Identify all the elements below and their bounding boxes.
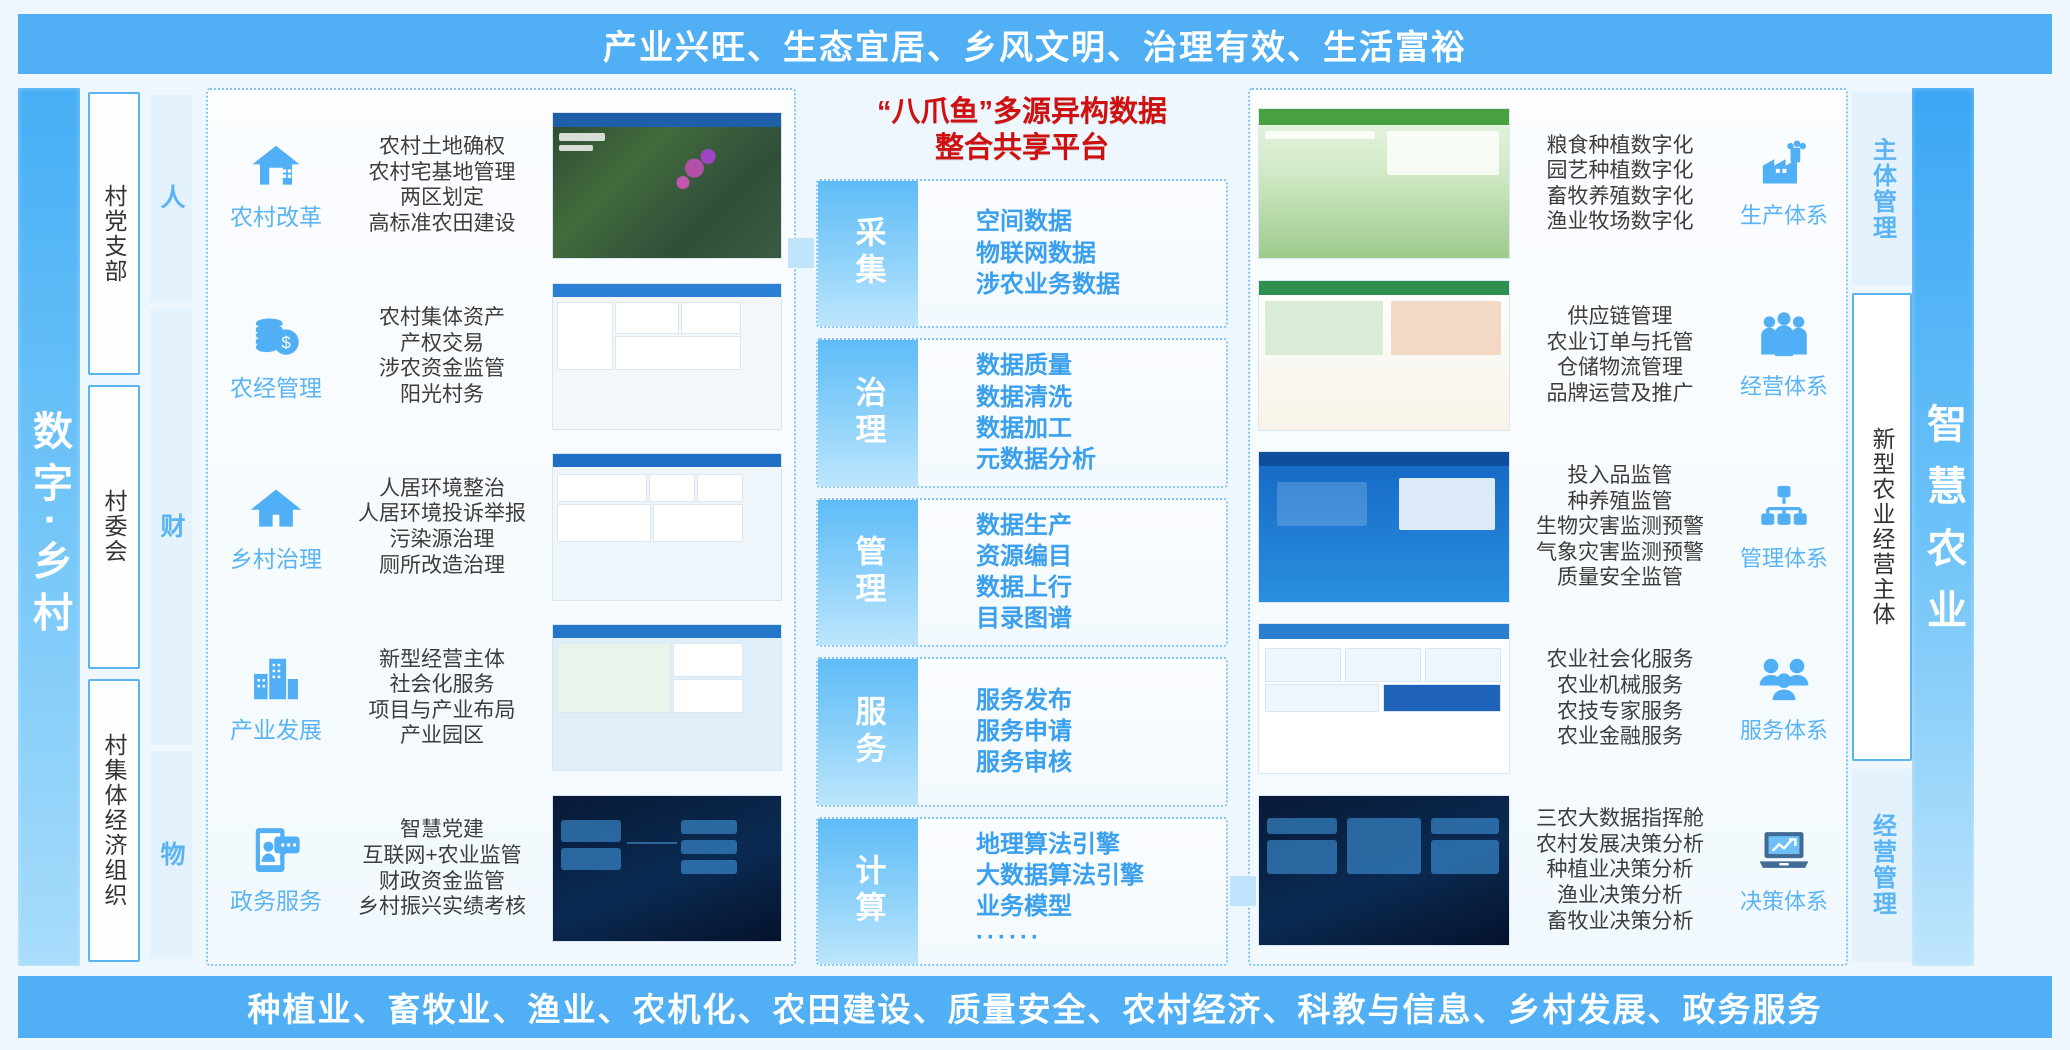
feature-item-list: 新型经营主体 社会化服务 项目与产业布局 产业园区 [338,647,546,749]
form-dashboard-screenshot[interactable] [552,283,782,430]
stage-item: 物联网数据 [976,238,1226,269]
feature-row-rural-governance[interactable]: 乡村治理 人居环境整治 人居环境投诉举报 污染源治理 厕所改造治理 [216,442,786,613]
mobile-chat-icon [246,822,306,878]
gis-map-screenshot[interactable] [552,624,782,771]
stage-item: 空间数据 [976,206,1226,237]
system-row-service[interactable]: 农业社会化服务 农业机械服务 农技专家服务 农业金融服务 服务体系 [1258,613,1838,785]
system-item: 气象灾害监测预警 [1536,540,1704,566]
feature-name: 农村改革 [230,198,322,232]
feature-item: 人居环境整治 [379,476,505,502]
top-banner: 产业兴旺、生态宜居、乡风文明、治理有效、生活富裕 [18,14,2052,74]
system-item-list: 供应链管理 农业订单与托管 仓储物流管理 品牌运营及推广 [1514,304,1726,406]
resource-column: 人 财 物 [146,88,196,966]
business-entity-column: 主体管理 新型农业经营主体 经营管理 [1852,88,1912,966]
system-item: 农技专家服务 [1557,699,1683,725]
feature-item: 产权交易 [400,331,484,357]
feature-name: 农经管理 [230,369,322,403]
resource-cell-assets: 物 [150,751,192,959]
bottom-banner: 种植业、畜牧业、渔业、农机化、农田建设、质量安全、农村经济、科教与信息、乡村发展… [18,976,2052,1038]
system-item-list: 投入品监管 种养殖监管 生物灾害监测预警 气象灾害监测预警 质量安全监管 [1514,463,1726,591]
stage-tag: 治理 [818,340,918,486]
left-vertical-strip: 数字·乡村 [18,88,80,966]
system-name: 决策体系 [1740,884,1828,916]
feature-name: 产业发展 [230,711,322,745]
stage-item: 大数据算法引擎 [976,860,1226,891]
feature-item: 两区划定 [400,185,484,211]
feature-item: 农村土地确权 [379,134,505,160]
system-item: 种植业决策分析 [1547,857,1694,883]
entity-box-new-agri-operators[interactable]: 新型农业经营主体 [1852,293,1912,761]
dark-bigdata-cockpit-screenshot[interactable] [1258,795,1510,946]
infographic-page: 产业兴旺、生态宜居、乡风文明、治理有效、生活富裕 数字·乡村 村党支部 村委会 … [0,0,2070,1050]
feature-item: 智慧党建 [400,817,484,843]
system-item: 品牌运营及推广 [1547,381,1694,407]
system-name: 经营体系 [1740,369,1828,401]
feature-item: 新型经营主体 [379,647,505,673]
stage-item-more: ······ [976,922,1226,953]
system-item: 农业社会化服务 [1547,647,1694,673]
stage-item: 数据清洗 [976,382,1226,413]
stage-item-list: 空间数据 物联网数据 涉农业务数据 [918,181,1226,327]
satellite-map-screenshot[interactable] [552,112,782,259]
factory-icon [1757,138,1811,195]
stage-tag: 服务 [818,659,918,805]
blue-supervision-screenshot[interactable] [1258,451,1510,602]
feature-icon-block: 产业发展 [220,651,332,745]
platform-title-line2: 整合共享平台 [816,130,1228,166]
three-people-icon [1757,653,1811,710]
feature-name: 乡村治理 [230,540,322,574]
people-group-icon [1757,309,1811,366]
platform-stage-collect[interactable]: 采集 空间数据 物联网数据 涉农业务数据 [816,179,1228,329]
system-item: 农业订单与托管 [1547,330,1694,356]
system-row-list: 粮食种植数字化 园艺种植数字化 畜牧养殖数字化 渔业牧场数字化 生产体系 [1258,98,1838,956]
stage-item: 业务模型 [976,891,1226,922]
feature-name: 政务服务 [230,882,322,916]
stage-item-list: 数据质量 数据清洗 数据加工 元数据分析 [918,340,1226,486]
system-icon-block: 决策体系 [1730,824,1838,916]
feature-item: 农村集体资产 [379,305,505,331]
stage-item: 数据上行 [976,572,1226,603]
platform-stage-management[interactable]: 管理 数据生产 资源编目 数据上行 目录图谱 [816,498,1228,648]
feature-icon-block: 政务服务 [220,822,332,916]
system-item: 农业机械服务 [1557,673,1683,699]
system-item: 园艺种植数字化 [1547,158,1694,184]
org-box-party-branch[interactable]: 村党支部 [88,92,140,375]
feature-item: 高标准农田建设 [369,211,516,237]
system-item: 渔业决策分析 [1557,883,1683,909]
system-icon-block: 生产体系 [1730,138,1838,230]
system-icon-block: 服务体系 [1730,653,1838,745]
system-item: 种养殖监管 [1568,489,1673,515]
feature-item-list: 农村集体资产 产权交易 涉农资金监管 阳光村务 [338,305,546,407]
platform-stage-list: 采集 空间数据 物联网数据 涉农业务数据 治理 数据质量 数据清洗 数据加工 元… [816,179,1228,967]
stage-item: 数据加工 [976,413,1226,444]
system-item: 渔业牧场数字化 [1547,209,1694,235]
stage-item: 服务发布 [976,685,1226,716]
feature-row-industry-development[interactable]: 产业发展 新型经营主体 社会化服务 项目与产业布局 产业园区 [216,612,786,783]
stage-item: 元数据分析 [976,444,1226,475]
system-item: 生物灾害监测预警 [1536,514,1704,540]
system-row-operation[interactable]: 供应链管理 农业订单与托管 仓储物流管理 品牌运营及推广 经营体系 [1258,270,1838,442]
org-box-collective-economy[interactable]: 村集体经济组织 [88,679,140,962]
stage-item: 服务申请 [976,716,1226,747]
feature-icon-block: $ 农经管理 [220,309,332,403]
feature-row-rural-economy[interactable]: $ 农经管理 农村集体资产 产权交易 涉农资金监管 阳光村务 [216,271,786,442]
feature-item: 社会化服务 [390,672,495,698]
system-name: 管理体系 [1740,541,1828,573]
system-item: 粮食种植数字化 [1547,133,1694,159]
system-item: 供应链管理 [1568,304,1673,330]
platform-title: “八爪鱼”多源异构数据 整合共享平台 [816,88,1228,179]
feature-item-list: 农村土地确权 农村宅基地管理 两区划定 高标准农田建设 [338,134,546,236]
system-item: 畜牧业决策分析 [1547,909,1694,935]
laptop-chart-icon [1757,824,1811,881]
feature-icon-block: 乡村治理 [220,480,332,574]
system-item: 畜牧养殖数字化 [1547,184,1694,210]
system-item-list: 粮食种植数字化 园艺种植数字化 畜牧养殖数字化 渔业牧场数字化 [1514,133,1726,235]
stage-item: 地理算法引擎 [976,829,1226,860]
system-item: 质量安全监管 [1557,565,1683,591]
platform-stage-compute[interactable]: 计算 地理算法引擎 大数据算法引擎 业务模型 ······ [816,817,1228,967]
system-item: 农村发展决策分析 [1536,832,1704,858]
feature-icon-block: 农村改革 [220,138,332,232]
stage-item: 数据生产 [976,510,1226,541]
platform-column: “八爪鱼”多源异构数据 整合共享平台 采集 空间数据 物联网数据 涉农业务数据 … [812,88,1232,966]
connector-plug-right [1230,876,1256,906]
feature-item: 污染源治理 [390,527,495,553]
platform-title-line1: “八爪鱼”多源异构数据 [816,94,1228,130]
system-name: 生产体系 [1740,198,1828,230]
feature-item: 财政资金监管 [379,869,505,895]
entity-label-subject-management: 主体管理 [1852,92,1912,285]
feature-column: 农村改革 农村土地确权 农村宅基地管理 两区划定 高标准农田建设 [206,88,796,966]
entity-label-operation-management: 经营管理 [1852,769,1912,962]
system-column: 粮食种植数字化 园艺种植数字化 畜牧养殖数字化 渔业牧场数字化 生产体系 [1248,88,1848,966]
green-farmland-portal-screenshot[interactable] [1258,108,1510,259]
platform-stage-governance[interactable]: 治理 数据质量 数据清洗 数据加工 元数据分析 [816,338,1228,488]
system-name: 服务体系 [1740,713,1828,745]
feature-row-government-service[interactable]: 政务服务 智慧党建 互联网+农业监管 财政资金监管 乡村振兴实绩考核 [216,783,786,954]
dark-command-center-screenshot[interactable] [552,795,782,942]
platform-stage-service[interactable]: 服务 服务发布 服务申请 服务审核 [816,657,1228,807]
feature-item-list: 人居环境整治 人居环境投诉举报 污染源治理 厕所改造治理 [338,476,546,578]
feature-item-list: 智慧党建 互联网+农业监管 财政资金监管 乡村振兴实绩考核 [338,817,546,919]
service-tiles-screenshot[interactable] [1258,623,1510,774]
home-icon [246,480,306,536]
connector-plug-left [788,238,814,268]
feature-item: 产业园区 [400,723,484,749]
stage-item-list: 服务发布 服务申请 服务审核 [918,659,1226,805]
stage-item: 数据质量 [976,350,1226,381]
stage-item-list: 地理算法引擎 大数据算法引擎 业务模型 ······ [918,819,1226,965]
stage-item: 涉农业务数据 [976,269,1226,300]
stage-tag: 计算 [818,819,918,965]
stage-item: 目录图谱 [976,603,1226,634]
system-item-list: 三农大数据指挥舱 农村发展决策分析 种植业决策分析 渔业决策分析 畜牧业决策分析 [1514,806,1726,934]
org-box-village-committee[interactable]: 村委会 [88,385,140,668]
vegetable-commerce-screenshot[interactable] [1258,280,1510,431]
house-check-icon [246,138,306,194]
hierarchy-icon [1757,481,1811,538]
svg-text:$: $ [281,333,291,352]
system-item: 仓储物流管理 [1557,355,1683,381]
feature-item: 阳光村务 [400,382,484,408]
feature-item: 乡村振兴实绩考核 [358,894,526,920]
system-row-management[interactable]: 投入品监管 种养殖监管 生物灾害监测预警 气象灾害监测预警 质量安全监管 管理体… [1258,441,1838,613]
system-item: 投入品监管 [1568,463,1673,489]
buildings-icon [246,651,306,707]
feature-row-rural-reform[interactable]: 农村改革 农村土地确权 农村宅基地管理 两区划定 高标准农田建设 [216,100,786,271]
system-row-production[interactable]: 粮食种植数字化 园艺种植数字化 畜牧养殖数字化 渔业牧场数字化 生产体系 [1258,98,1838,270]
coins-dollar-icon: $ [246,309,306,365]
feature-item: 互联网+农业监管 [362,843,521,869]
right-vertical-strip: 智慧农业 [1912,88,1974,966]
diagram-body: 数字·乡村 村党支部 村委会 村集体经济组织 人 财 物 农村改革 [18,88,2052,966]
stage-item: 资源编目 [976,541,1226,572]
feature-item: 人居环境投诉举报 [358,501,526,527]
feature-item: 项目与产业布局 [369,698,516,724]
feature-item: 厕所改造治理 [379,553,505,579]
analytics-dashboard-screenshot[interactable] [552,453,782,600]
stage-item: 服务审核 [976,747,1226,778]
system-item: 三农大数据指挥舱 [1536,806,1704,832]
feature-item: 农村宅基地管理 [369,160,516,186]
system-icon-block: 经营体系 [1730,309,1838,401]
village-org-column: 村党支部 村委会 村集体经济组织 [80,88,146,966]
system-icon-block: 管理体系 [1730,481,1838,573]
stage-item-list: 数据生产 资源编目 数据上行 目录图谱 [918,500,1226,646]
stage-tag: 采集 [818,181,918,327]
stage-tag: 管理 [818,500,918,646]
system-item-list: 农业社会化服务 农业机械服务 农技专家服务 农业金融服务 [1514,647,1726,749]
feature-item: 涉农资金监管 [379,356,505,382]
resource-cell-people: 人 [150,95,192,303]
resource-cell-finance: 财 [150,309,192,745]
system-item: 农业金融服务 [1557,724,1683,750]
system-row-decision[interactable]: 三农大数据指挥舱 农村发展决策分析 种植业决策分析 渔业决策分析 畜牧业决策分析… [1258,784,1838,956]
